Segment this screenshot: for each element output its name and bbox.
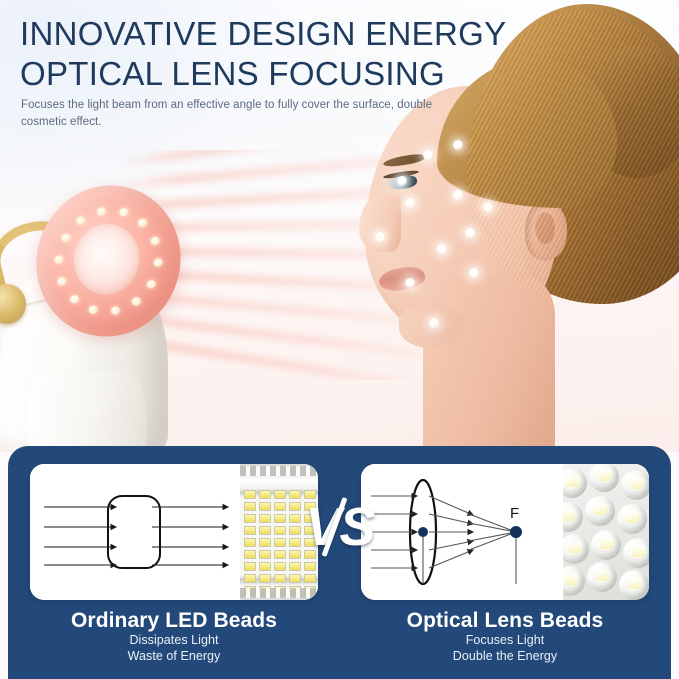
led-bead [289, 514, 301, 523]
treatment-spot [397, 176, 407, 186]
hero-section: INNOVATIVE DESIGN ENERGY OPTICAL LENS FO… [0, 0, 679, 452]
optical-lens-sub-2: Double the Energy [361, 649, 649, 665]
strip-notch-top [240, 466, 318, 476]
optical-lens-bead [587, 562, 617, 592]
optical-lens-bead [563, 534, 589, 564]
led-bead [259, 526, 271, 535]
device-led-dot [146, 280, 156, 290]
led-bead [274, 502, 286, 511]
device-led-dot [138, 218, 148, 228]
ordinary-led-card [30, 464, 318, 600]
optical-lens-bead [563, 468, 587, 498]
led-bead [289, 550, 301, 559]
ordinary-led-title: Ordinary LED Beads [30, 609, 318, 633]
led-bead [259, 538, 271, 547]
optical-lens-sub-1: Focuses Light [361, 633, 649, 649]
treatment-spot [453, 140, 463, 150]
led-bead [244, 538, 256, 547]
device-head-core [69, 218, 144, 300]
device-led-dot [97, 207, 107, 217]
optical-lens-bead [563, 566, 585, 596]
comparison-left-column: Ordinary LED Beads Dissipates Light Wast… [30, 464, 318, 664]
optical-lens-bead [589, 464, 619, 492]
comparison-right-column: F Optical Lens Beads Focuses Light Doubl… [361, 464, 649, 664]
treatment-spot [405, 278, 415, 288]
device-led-dot [54, 254, 64, 264]
treatment-spot [405, 198, 415, 208]
optical-lens-title: Optical Lens Beads [361, 609, 649, 633]
strip-notch-bottom [240, 588, 318, 598]
lens-focusing-svg: F [361, 464, 563, 600]
ordinary-led-sub-1: Dissipates Light [30, 633, 318, 649]
led-bead [304, 574, 316, 583]
led-bead [244, 562, 256, 571]
treatment-spot [469, 268, 479, 278]
device-led-dot [57, 277, 67, 287]
led-bead [289, 490, 301, 499]
device-led-dot [150, 236, 160, 246]
led-bead [274, 574, 286, 583]
led-bead [274, 514, 286, 523]
optical-lens-bead [591, 530, 621, 560]
led-bead [289, 538, 301, 547]
page-title: INNOVATIVE DESIGN ENERGY OPTICAL LENS FO… [20, 14, 540, 94]
device-led-dot [69, 295, 79, 305]
parallel-rays-diagram [30, 464, 240, 600]
led-bead [289, 526, 301, 535]
device-led-dot [88, 305, 98, 315]
optical-lens-bead [617, 504, 647, 534]
focal-point-label: F [510, 505, 519, 522]
led-bead [244, 550, 256, 559]
optical-lens-bead-photo [563, 464, 649, 600]
led-bead [244, 502, 256, 511]
led-bead [244, 574, 256, 583]
parallel-rays-svg [30, 464, 240, 600]
led-bead [259, 490, 271, 499]
led-bead [259, 502, 271, 511]
device-led-dot [131, 297, 141, 307]
led-bead [274, 538, 286, 547]
optical-lens-bead [621, 470, 649, 500]
led-bead [274, 550, 286, 559]
led-bead [259, 574, 271, 583]
treatment-spot [483, 202, 493, 212]
lens-focusing-diagram: F [361, 464, 563, 600]
treatment-spot [453, 190, 463, 200]
led-beauty-wand [0, 168, 238, 452]
comparison-panel: Ordinary LED Beads Dissipates Light Wast… [8, 446, 671, 679]
nose [359, 196, 401, 252]
optical-lens-card: F [361, 464, 649, 600]
led-bead [274, 526, 286, 535]
led-bead [244, 490, 256, 499]
led-bead [259, 562, 271, 571]
led-bead [274, 562, 286, 571]
device-led-dot [153, 258, 163, 268]
headline-line-1: INNOVATIVE DESIGN ENERGY [20, 14, 540, 54]
optical-lens-bead [563, 502, 583, 532]
led-bead [244, 526, 256, 535]
device-led-dot [110, 306, 120, 316]
headline-subtitle: Focuses the light beam from an effective… [21, 97, 451, 130]
led-bead [289, 502, 301, 511]
treatment-spot [437, 244, 447, 254]
led-bead [244, 514, 256, 523]
treatment-spot [375, 232, 385, 242]
device-led-dot [76, 216, 86, 226]
led-bead [304, 562, 316, 571]
led-bead [259, 514, 271, 523]
optical-lens-bead [585, 496, 615, 526]
optical-lens-bead [623, 538, 649, 568]
led-bead [274, 490, 286, 499]
led-bead [289, 562, 301, 571]
treatment-spot [423, 150, 433, 160]
led-bead [259, 550, 271, 559]
treatment-spot [429, 318, 439, 328]
vs-badge: VS [305, 500, 373, 554]
headline-line-2: OPTICAL LENS FOCUSING [20, 54, 540, 94]
product-infographic: INNOVATIVE DESIGN ENERGY OPTICAL LENS FO… [0, 0, 679, 679]
ordinary-led-sub-2: Waste of Energy [30, 649, 318, 665]
optical-lens-bead [619, 570, 649, 600]
device-led-dot [61, 233, 71, 243]
neck [423, 276, 555, 452]
treatment-spot [465, 228, 475, 238]
device-handle [28, 373, 146, 452]
device-led-dot [119, 207, 129, 217]
led-bead [289, 574, 301, 583]
